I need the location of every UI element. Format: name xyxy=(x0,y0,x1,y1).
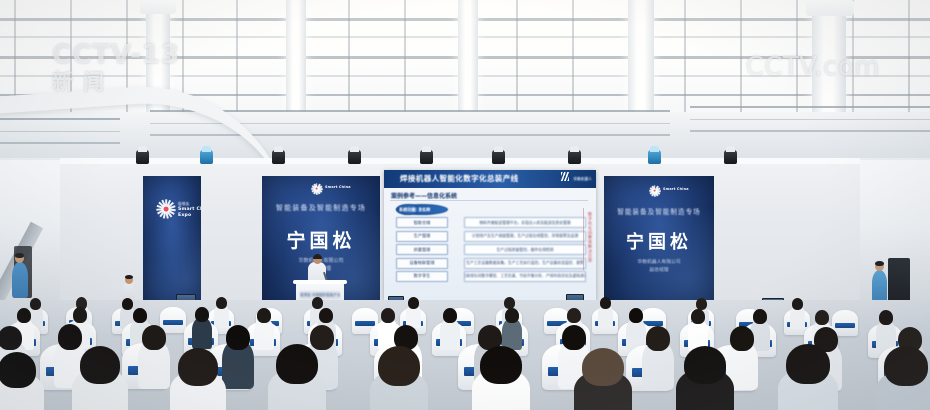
expo-brand-cn-left: 智博会 xyxy=(178,202,189,206)
table-row: 智能仓储 物料齐套配送管理平台，实现出入库及配送信息化管理 xyxy=(396,217,586,228)
banner-left: 智博会 Smart China Expo xyxy=(143,176,201,308)
speaker-title-right: 副总经理 xyxy=(604,267,714,274)
speaker-name-right: 宁国松 xyxy=(604,228,714,254)
slide-side-note: 数字化车间整体解决方案 xyxy=(587,212,593,263)
expo-brand-en-line2-left: Expo xyxy=(178,213,191,219)
brand-bars-icon xyxy=(561,172,569,181)
presentation-screen: 焊接机器人智能化数字化总装产线 华数机器人 案例参考——信息化系统 系统名称 系… xyxy=(384,170,596,300)
table-row: 质量管理 生产过程质量管控，器件在线检测 xyxy=(396,244,586,255)
row-desc: 总装线车间数字模型、工艺仿真、节拍平衡分析、产线布局优化及虚拟调试 xyxy=(464,271,586,282)
smart-china-expo-logo-right xyxy=(648,184,661,197)
row-desc: 生产工艺设备数据采集，生产工艺执行监控，生产设备状态监控、报警 xyxy=(464,258,586,269)
stage-wall-cap xyxy=(60,158,860,164)
banner-right: Smart China 智能装备及智能制造专场 宁国松 华数机器人有限公司 副总… xyxy=(604,176,714,308)
speaker-name-left: 宁国松 xyxy=(262,226,380,253)
table-row: 数字孪生 总装线车间数字模型、工艺仿真、节拍平衡分析、产线布局优化及虚拟调试 xyxy=(396,271,586,282)
row-name: 数字孪生 xyxy=(396,271,448,282)
slide-brand-mark: 华数机器人 xyxy=(561,172,592,182)
staff-hair xyxy=(125,275,133,279)
staff-member xyxy=(872,270,887,302)
expo-brand-en-center: Smart China xyxy=(325,185,351,189)
row-name: 生产管理 xyxy=(396,231,448,242)
table-header-row: 系统名称 系统功能 xyxy=(396,204,586,215)
slide-table: 系统名称 系统功能 智能仓储 物料齐套配送管理平台，实现出入库及配送信息化管理 … xyxy=(396,204,586,284)
row-name: 设备物联管理 xyxy=(396,258,448,269)
speaker-hair xyxy=(313,254,322,259)
table-row: 设备物联管理 生产工艺设备数据采集，生产工艺执行监控，生产设备状态监控、报警 xyxy=(396,258,586,269)
row-desc: 生产过程质量管控，器件在线检测 xyxy=(464,244,586,255)
staff-member xyxy=(12,262,28,298)
expo-brand-en-right: Smart China xyxy=(663,187,689,191)
slide-title: 焊接机器人智能化数字化总装产线 xyxy=(400,173,519,184)
broadcast-frame: 智博会 Smart China Expo Smart Chi xyxy=(0,0,930,410)
smart-china-expo-logo-left xyxy=(155,198,177,220)
session-title-left: 智能装备及智能制造专场 xyxy=(262,203,380,213)
speaker-org-right: 华数机器人有限公司 xyxy=(604,259,714,266)
row-desc: 物料齐套配送管理平台，实现出入库及配送信息化管理 xyxy=(464,217,586,228)
expo-brand-en-line1-left: Smart China xyxy=(178,207,201,213)
row-name: 智能仓储 xyxy=(396,217,448,228)
table-header-right: 系统功能 xyxy=(396,204,419,215)
staff-hair xyxy=(875,261,884,266)
session-title-right: 智能装备及智能制造专场 xyxy=(604,206,714,216)
balcony-railing xyxy=(690,106,930,132)
row-desc: 计划排产及生产调度管理，生产过程在线管控，异常报警及追溯 xyxy=(464,231,586,242)
smart-china-expo-logo-center xyxy=(310,182,323,195)
staff-hair xyxy=(15,253,24,258)
slide-side-rule xyxy=(583,208,584,270)
slide-divider xyxy=(390,200,588,201)
row-name: 质量管理 xyxy=(396,244,448,255)
table-row: 生产管理 计划排产及生产调度管理，生产过程在线管控，异常报警及追溯 xyxy=(396,231,586,242)
slide-subtitle: 案例参考——信息化系统 xyxy=(391,191,457,200)
